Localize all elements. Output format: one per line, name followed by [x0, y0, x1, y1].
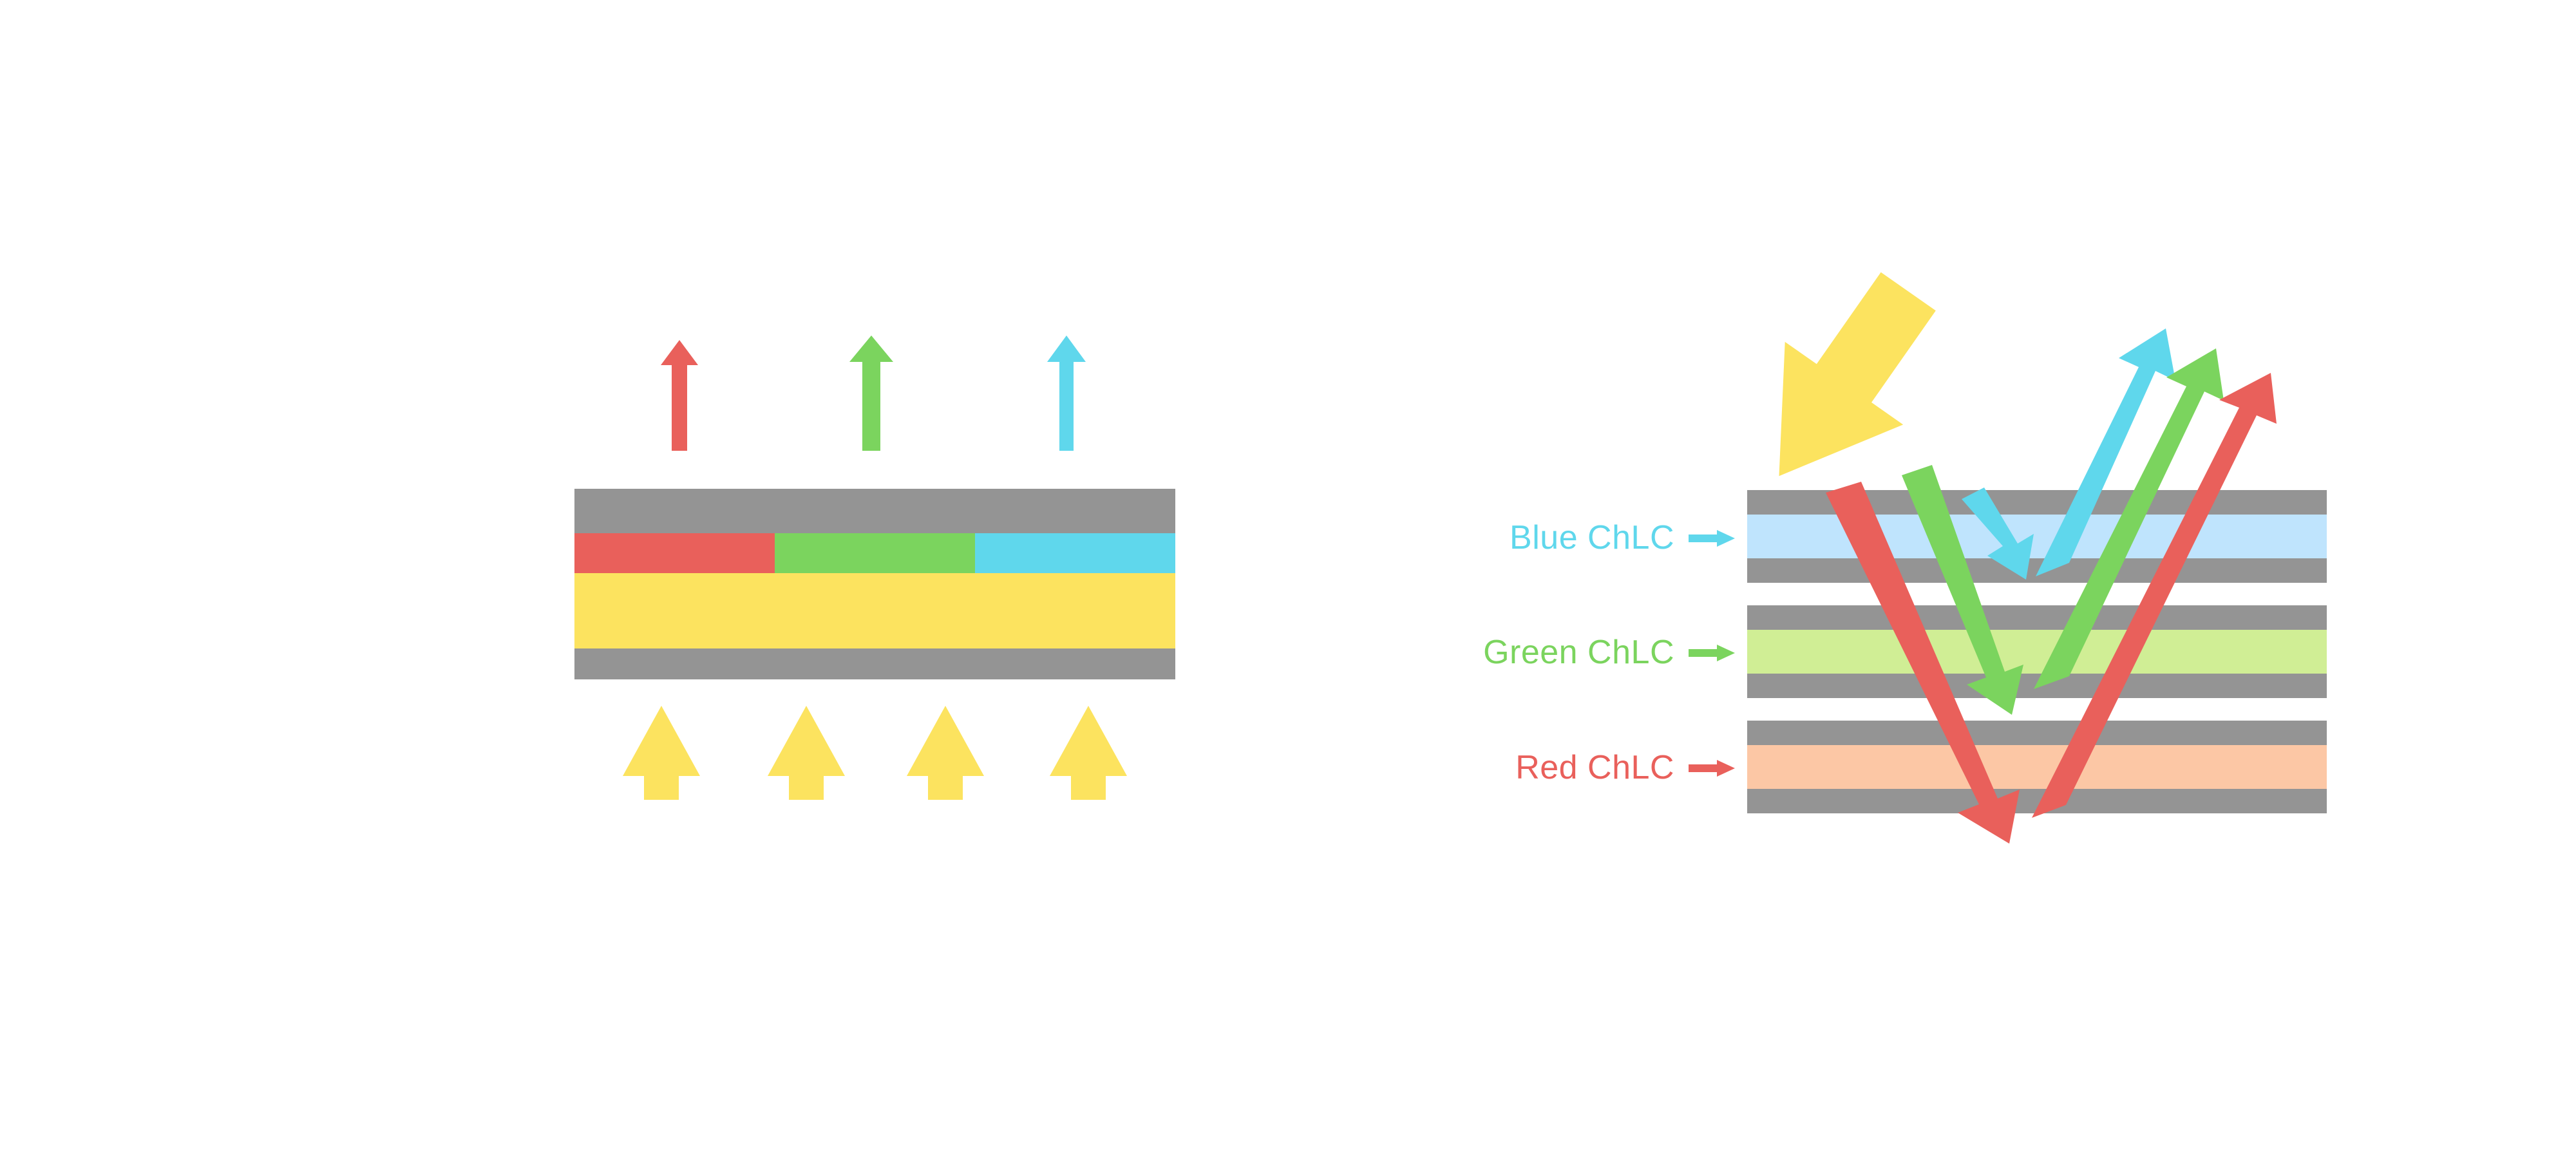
blue-chlc-label: Blue ChLC	[1510, 519, 1674, 556]
green-chlc-layer	[1747, 630, 2327, 674]
left-top-electrode	[574, 489, 1175, 533]
blue-color-filter	[975, 533, 1175, 573]
diagram-root: Blue ChLC Green ChLC Red ChLC	[0, 0, 2576, 1154]
left-bottom-electrode	[574, 648, 1175, 679]
red-chlc-layer	[1747, 745, 2327, 789]
red-color-filter	[574, 533, 775, 573]
red-chlc-cell	[1747, 721, 2327, 813]
red-cell-top-electrode	[1747, 721, 2327, 745]
display-stack-diagram: Blue ChLC Green ChLC Red ChLC	[0, 0, 2576, 1154]
green-color-filter	[775, 533, 975, 573]
red-chlc-label: Red ChLC	[1515, 749, 1674, 786]
left-stack-layers	[574, 489, 1175, 679]
green-cell-top-electrode	[1747, 605, 2327, 630]
blue-chlc-layer	[1747, 515, 2327, 558]
yellow-backlight-layer	[574, 573, 1175, 648]
blue-cell-bottom-electrode	[1747, 558, 2327, 583]
green-chlc-label: Green ChLC	[1483, 634, 1674, 671]
